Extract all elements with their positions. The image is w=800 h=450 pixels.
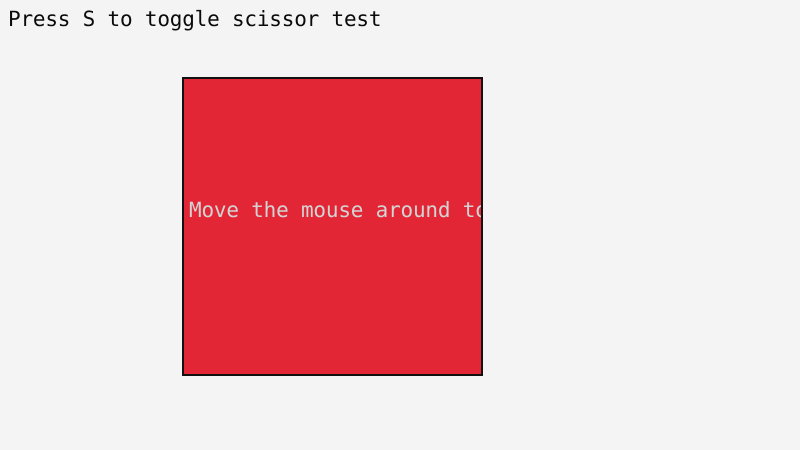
demo-canvas: Press S to toggle scissor test Move the … (0, 0, 800, 450)
scissor-clipped-message: Move the mouse around to r (189, 197, 483, 223)
scissor-toggle-instruction: Press S to toggle scissor test (8, 6, 381, 32)
scissor-rectangle[interactable]: Move the mouse around to r (182, 77, 483, 376)
